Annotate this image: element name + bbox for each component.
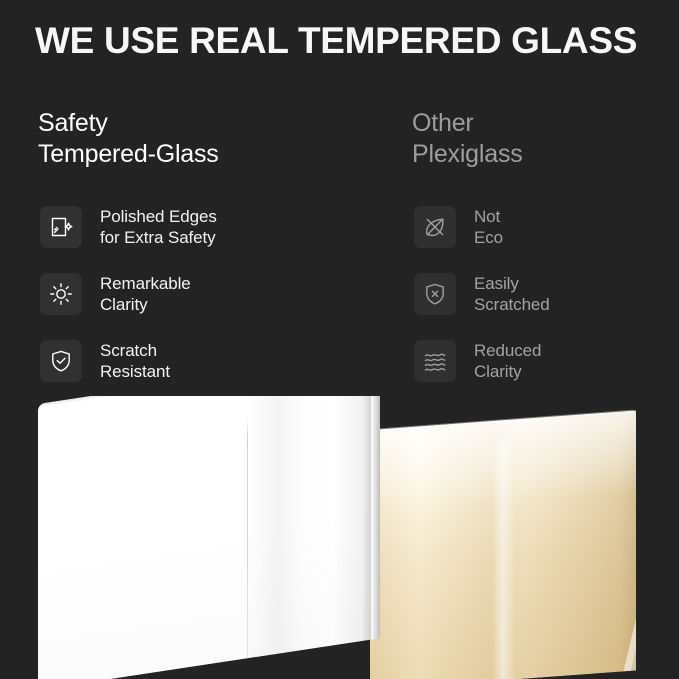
feature-row-scratch-resistant: Scratch Resistant (40, 340, 217, 382)
feature-list-plexiglass: Not Eco Easily Scratched (414, 206, 550, 407)
feature-label-polished-edges: Polished Edges for Extra Safety (100, 206, 217, 248)
shield-x-icon (414, 273, 456, 315)
product-photo (0, 396, 679, 679)
glass-panel-side-edge (371, 396, 380, 640)
feature-label-easily-scratched: Easily Scratched (474, 273, 550, 315)
shield-check-icon (40, 340, 82, 382)
feature-label-scratch-resistant: Scratch Resistant (100, 340, 170, 382)
comparison-column-plexiglass: Other Plexiglass Not Eco (412, 108, 672, 170)
feature-row-easily-scratched: Easily Scratched (414, 273, 550, 315)
feature-list-tempered-glass: Polished Edges for Extra Safety (40, 206, 217, 407)
wavy-lines-icon (414, 340, 456, 382)
leaf-crossed-out-icon (414, 206, 456, 248)
feature-label-not-eco: Not Eco (474, 206, 503, 248)
comparison-column-tempered-glass: Safety Tempered-Glass Polished Edges for… (38, 108, 368, 170)
tempered-glass-panel (38, 396, 372, 679)
polished-edges-icon (40, 206, 82, 248)
feature-label-reduced-clarity: Reduced Clarity (474, 340, 541, 382)
column-heading-plexiglass: Other Plexiglass (412, 108, 672, 170)
feature-label-remarkable-clarity: Remarkable Clarity (100, 273, 191, 315)
feature-row-reduced-clarity: Reduced Clarity (414, 340, 550, 382)
page-title: WE USE REAL TEMPERED GLASS (35, 20, 655, 62)
product-comparison-infographic: WE USE REAL TEMPERED GLASS Safety Temper… (0, 0, 679, 679)
plexiglass-panel (370, 410, 636, 679)
column-heading-tempered-glass: Safety Tempered-Glass (38, 108, 368, 170)
brightness-sun-icon (40, 273, 82, 315)
feature-row-remarkable-clarity: Remarkable Clarity (40, 273, 217, 315)
feature-row-not-eco: Not Eco (414, 206, 550, 248)
feature-row-polished-edges: Polished Edges for Extra Safety (40, 206, 217, 248)
